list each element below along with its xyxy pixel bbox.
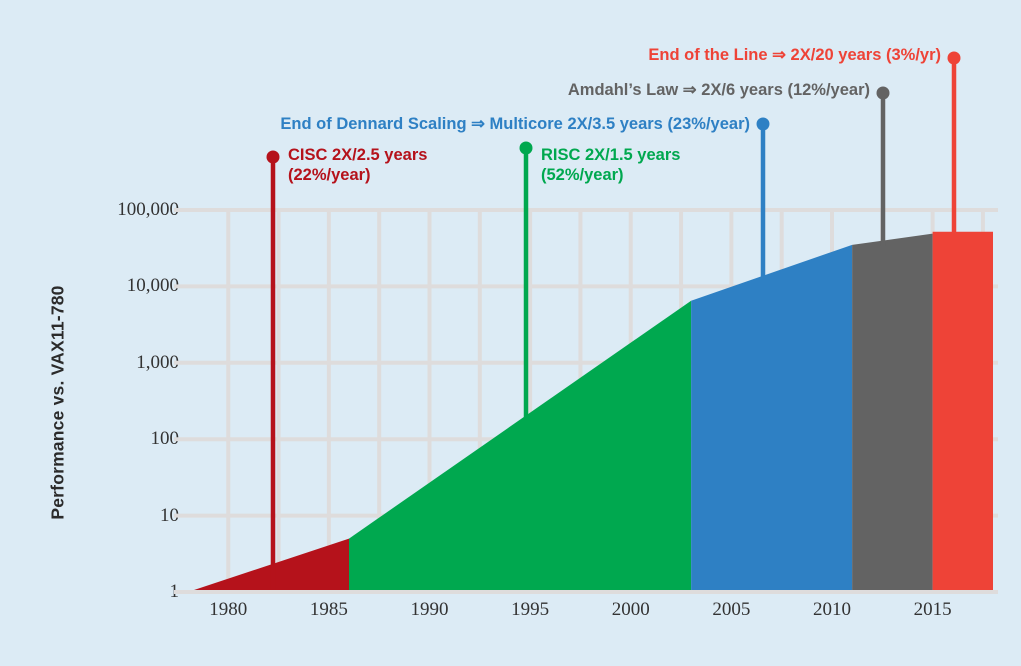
annotation-dennard-scaling: End of Dennard Scaling ⇒ Multicore 2X/3.… bbox=[280, 114, 750, 134]
annotation-pin-dot-dennard bbox=[757, 118, 770, 131]
annotation-pin-dot-end-of-line bbox=[948, 52, 961, 65]
annotation-cisc: CISC 2X/2.5 years (22%/year) bbox=[288, 145, 427, 185]
annotation-risc: RISC 2X/1.5 years (52%/year) bbox=[541, 145, 680, 185]
annotation-pin-dot-risc bbox=[520, 142, 533, 155]
series-band-end-of-the-line bbox=[933, 232, 993, 592]
series-band-risc bbox=[349, 301, 691, 592]
annotation-amdahls-law: Amdahl’s Law ⇒ 2X/6 years (12%/year) bbox=[568, 80, 870, 100]
annotation-pin-dot-cisc bbox=[267, 151, 280, 164]
series-band-multicore bbox=[691, 245, 852, 592]
series-band-amdahl bbox=[852, 234, 933, 592]
annotation-end-of-the-line: End of the Line ⇒ 2X/20 years (3%/yr) bbox=[648, 45, 941, 65]
series-band-cisc bbox=[188, 539, 349, 592]
performance-chart: Performance vs. VAX11-780 1101001,00010,… bbox=[0, 0, 1021, 666]
annotation-pin-dot-amdahl bbox=[877, 87, 890, 100]
